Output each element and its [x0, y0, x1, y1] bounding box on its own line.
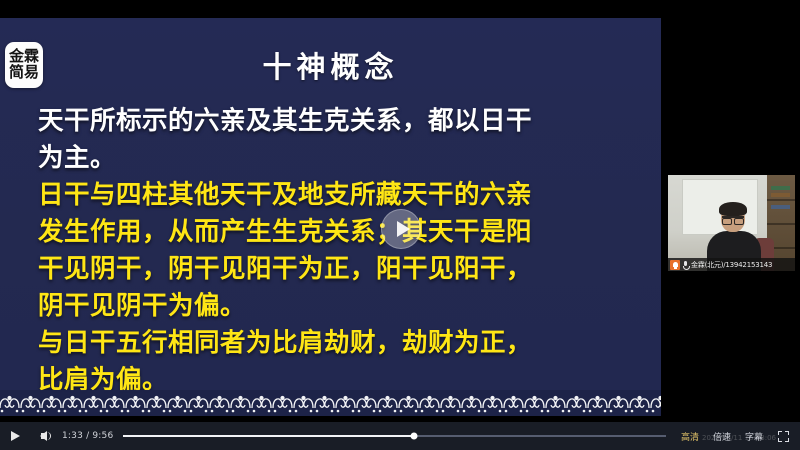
slide-title: 十神概念 [0, 44, 661, 86]
book [771, 193, 790, 197]
play-button[interactable] [0, 422, 30, 450]
fullscreen-icon [778, 431, 789, 442]
slide-line: 与日干五行相同者为比肩劫财，劫财为正， [38, 326, 637, 361]
slide-line: 日干与四柱其他天干及地支所藏天干的六亲 [38, 178, 637, 213]
play-icon [397, 221, 410, 237]
progress-knob[interactable] [410, 433, 417, 440]
progress-filled [123, 435, 413, 437]
slide-body-text: 天干所标示的六亲及其生克关系，都以日干 为主。 日干与四柱其他天干及地支所藏天干… [38, 104, 637, 400]
book [771, 205, 790, 209]
participant-name-label: 金霖(北元)/13942153143 [691, 260, 772, 270]
glasses [722, 216, 744, 221]
channel-logo-watermark: 金霖 简易 [5, 42, 43, 88]
decorative-border-ornament [0, 390, 661, 416]
player-control-bar: 1:33 / 9:56 高清 倍速 字幕 [0, 422, 800, 450]
shelf-divider [767, 199, 795, 201]
video-player: 金霖 简易 十神概念 天干所标示的六亲及其生克关系，都以日干 为主。 日干与四柱… [0, 0, 800, 450]
shelf-divider [767, 223, 795, 225]
person-icon [670, 260, 680, 270]
slide-line: 发生作用，从而产生生克关系；其天干是阳 [38, 215, 637, 250]
play-icon [11, 431, 20, 441]
slide-line: 干见阴干，阴干见阳干为正，阳干见阳干， [38, 252, 637, 287]
time-display: 1:33 / 9:56 [62, 431, 113, 441]
webcam-overlay[interactable]: 金霖(北元)/13942153143 [668, 175, 795, 271]
center-play-overlay-button[interactable] [381, 209, 421, 249]
participant-nameplate: 金霖(北元)/13942153143 [668, 258, 795, 271]
book [771, 186, 790, 190]
volume-wave-icon [47, 432, 51, 440]
logo-line-2: 简易 [9, 65, 39, 81]
slide-line: 天干所标示的六亲及其生克关系，都以日干 [38, 104, 637, 139]
progress-track[interactable] [123, 435, 666, 437]
volume-button[interactable] [30, 422, 56, 450]
volume-icon [40, 431, 47, 441]
microphone-icon [682, 260, 689, 270]
progress-bar[interactable] [123, 422, 666, 450]
fullscreen-button[interactable] [770, 422, 796, 450]
presentation-slide: 金霖 简易 十神概念 天干所标示的六亲及其生克关系，都以日干 为主。 日干与四柱… [0, 18, 661, 416]
subtitle-toggle[interactable]: 字幕 [738, 422, 770, 450]
slide-line: 阴干见阴干为偏。 [38, 289, 637, 324]
playback-speed-selector[interactable]: 倍速 [706, 422, 738, 450]
person-hair [719, 202, 747, 216]
quality-selector[interactable]: 高清 [674, 422, 706, 450]
slide-line: 为主。 [38, 141, 637, 176]
